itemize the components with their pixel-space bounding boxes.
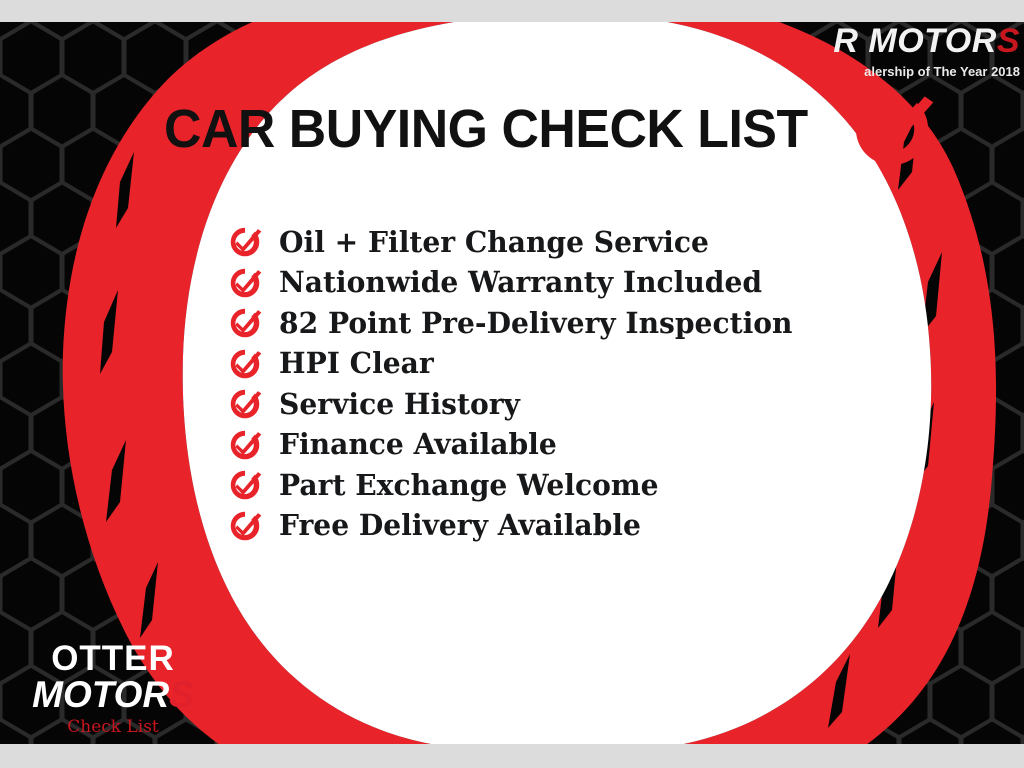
check-circle-icon	[228, 428, 262, 462]
checklist-item-label: Oil + Filter Change Service	[279, 228, 709, 257]
checklist-item-label: Finance Available	[279, 430, 557, 459]
checklist-item: Part Exchange Welcome	[228, 465, 808, 506]
checklist-item: 82 Point Pre-Delivery Inspection	[228, 303, 808, 344]
checklist-item: Nationwide Warranty Included	[228, 263, 808, 304]
slide-content: CAR BUYING CHECK LIST Oil + Filter Chang…	[0, 0, 1024, 768]
brand-name-line2-main: MOTOR	[32, 674, 169, 715]
check-circle-icon	[228, 387, 262, 421]
check-circle-icon	[228, 306, 262, 340]
letterbox-top	[0, 0, 1024, 22]
check-circle-icon	[228, 225, 262, 259]
checklist-item-label: Free Delivery Available	[279, 511, 641, 540]
checklist-item-label: Service History	[279, 390, 520, 419]
page-title: CAR BUYING CHECK LIST	[164, 86, 935, 172]
checklist-item: Free Delivery Available	[228, 506, 808, 547]
checklist: Oil + Filter Change ServiceNationwide Wa…	[228, 222, 808, 546]
checklist-item: Service History	[228, 384, 808, 425]
check-circle-icon	[228, 509, 262, 543]
brand-tagline: Check List	[18, 717, 208, 738]
checklist-item-label: 82 Point Pre-Delivery Inspection	[279, 309, 792, 338]
brand-logo: OTTER MOTORS Check List	[18, 641, 208, 738]
checklist-item: Finance Available	[228, 425, 808, 466]
checklist-item-label: HPI Clear	[279, 349, 434, 378]
brand-name-line2-accent: S	[169, 674, 194, 715]
letterbox-bottom	[0, 744, 1024, 768]
check-circle-icon	[228, 266, 262, 300]
check-circle-icon	[849, 86, 935, 172]
brand-name-line1: OTTER	[18, 641, 208, 677]
checklist-item: HPI Clear	[228, 344, 808, 385]
checklist-item-label: Nationwide Warranty Included	[279, 268, 762, 297]
checklist-item-label: Part Exchange Welcome	[279, 471, 658, 500]
check-circle-icon	[228, 468, 262, 502]
check-circle-icon	[228, 347, 262, 381]
page-title-text: CAR BUYING CHECK LIST	[164, 102, 808, 156]
brand-name-line2: MOTORS	[18, 676, 208, 714]
checklist-item: Oil + Filter Change Service	[228, 222, 808, 263]
slide-canvas: R MOTORS alership of The Year 2018 CAR B…	[0, 0, 1024, 768]
